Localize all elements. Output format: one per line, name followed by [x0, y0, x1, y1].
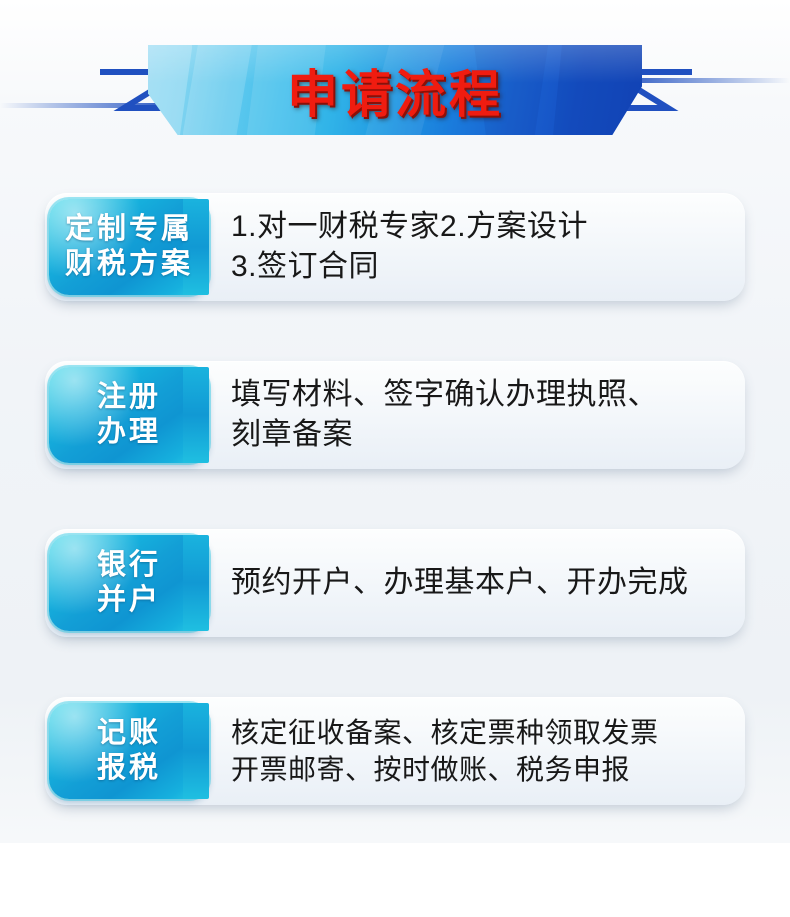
page-title: 申请流程 — [148, 45, 642, 135]
step-description-line: 核定征收备案、核定票种领取发票 — [231, 714, 729, 751]
step-description-line: 开票邮寄、按时做账、税务申报 — [231, 751, 729, 788]
step-description-line: 刻章备案 — [231, 415, 729, 455]
process-step-row[interactable]: 记账 报税 核定征收备案、核定票种领取发票 开票邮寄、按时做账、税务申报 — [45, 697, 745, 805]
process-step-row[interactable]: 定制专属 财税方案 1.对一财税专家2.方案设计 3.签订合同 — [45, 193, 745, 301]
step-label-line: 财税方案 — [65, 247, 193, 282]
header-banner: 申请流程 — [0, 0, 790, 175]
step-description-line: 填写材料、签字确认办理执照、 — [231, 375, 729, 415]
step-label-badge: 银行 并户 — [49, 535, 209, 631]
step-label-line: 银行 — [97, 548, 161, 583]
step-label-badge: 定制专属 财税方案 — [49, 199, 209, 295]
process-step-list: 定制专属 财税方案 1.对一财税专家2.方案设计 3.签订合同 注册 办理 填写… — [0, 193, 790, 805]
infographic-page: 申请流程 定制专属 财税方案 1.对一财税专家2.方案设计 3.签订合同 注册 … — [0, 0, 790, 917]
step-label-line: 定制专属 — [65, 212, 193, 247]
step-description: 预约开户、办理基本户、开办完成 — [209, 529, 745, 637]
step-description: 核定征收备案、核定票种领取发票 开票邮寄、按时做账、税务申报 — [209, 697, 745, 805]
step-label-badge: 注册 办理 — [49, 367, 209, 463]
step-description: 1.对一财税专家2.方案设计 3.签订合同 — [209, 193, 745, 301]
step-label-badge: 记账 报税 — [49, 703, 209, 799]
process-step-row[interactable]: 注册 办理 填写材料、签字确认办理执照、 刻章备案 — [45, 361, 745, 469]
step-description-line: 3.签订合同 — [231, 247, 729, 287]
process-step-row[interactable]: 银行 并户 预约开户、办理基本户、开办完成 — [45, 529, 745, 637]
step-description: 填写材料、签字确认办理执照、 刻章备案 — [209, 361, 745, 469]
step-label-line: 记账 — [97, 716, 161, 751]
step-label-line: 办理 — [97, 415, 161, 450]
step-label-line: 报税 — [97, 751, 161, 786]
step-label-line: 注册 — [97, 380, 161, 415]
step-description-line: 1.对一财税专家2.方案设计 — [231, 207, 729, 247]
step-label-line: 并户 — [97, 583, 161, 618]
step-description-line: 预约开户、办理基本户、开办完成 — [231, 563, 729, 603]
